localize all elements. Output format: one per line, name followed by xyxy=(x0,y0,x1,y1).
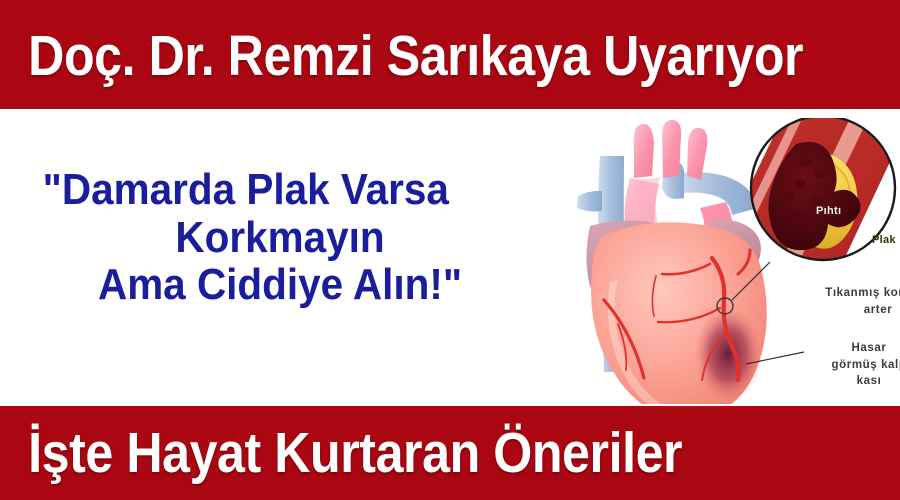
damaged-muscle-region xyxy=(694,306,762,402)
quote-line-1: "Damarda Plak Varsa xyxy=(37,166,523,214)
poster-canvas: Doç. Dr. Remzi Sarıkaya Uyarıyor "Damard… xyxy=(0,0,900,500)
blocked-artery-label: Tıkanmış koroner arter xyxy=(808,285,900,318)
damaged-muscle-label: Hasar görmüş kalp kası xyxy=(808,340,900,390)
advice-headline: İşte Hayat Kurtaran Öneriler xyxy=(0,425,682,482)
heart-illustration: Pıhtı Plak Tıkanmış koroner arter Hasar … xyxy=(560,118,900,404)
damaged-muscle-label-line1: Hasar xyxy=(808,340,900,357)
quote-line-3: Ama Ciddiye Alın!" xyxy=(37,261,523,309)
bottom-red-banner: İşte Hayat Kurtaran Öneriler xyxy=(0,406,900,500)
damaged-muscle-label-line3: kası xyxy=(808,373,900,390)
quote-line-2: Korkmayın xyxy=(37,214,523,262)
clot-label: Pıhtı xyxy=(816,205,841,217)
blocked-artery-label-line1: Tıkanmış koroner xyxy=(808,285,900,302)
doctor-name-headline: Doç. Dr. Remzi Sarıkaya Uyarıyor xyxy=(0,28,803,85)
damaged-muscle-label-line2: görmüş kalp xyxy=(808,357,900,374)
quote-headline: "Damarda Plak Varsa Korkmayın Ama Ciddiy… xyxy=(37,166,523,309)
blocked-artery-label-line2: arter xyxy=(808,302,900,319)
top-red-banner: Doç. Dr. Remzi Sarıkaya Uyarıyor xyxy=(0,0,900,109)
plaque-label: Plak xyxy=(872,234,896,246)
